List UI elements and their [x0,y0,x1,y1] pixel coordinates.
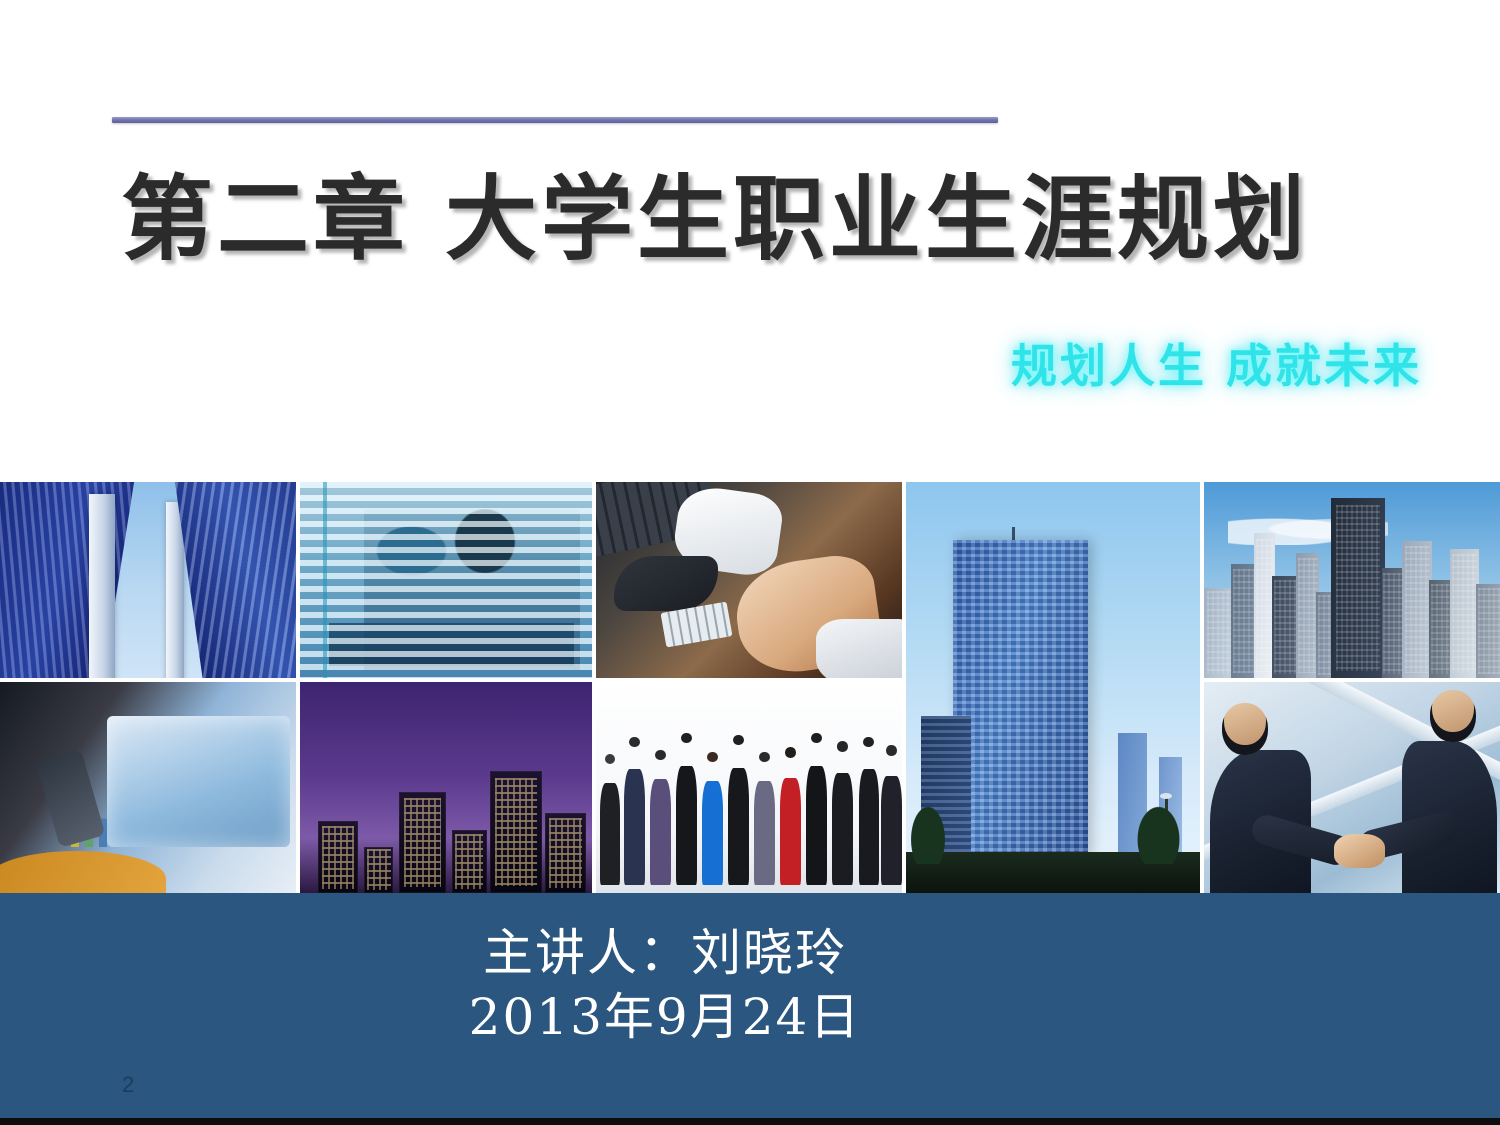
collage-column-2 [300,482,592,893]
page-number: 2 [122,1072,134,1098]
slide-tagline: 规划人生 成就未来 [1011,330,1422,396]
presentation-slide: 第二章 大学生职业生涯规划 规划人生 成就未来 [0,0,1500,1125]
photo-business-people-row [596,682,902,893]
photo-call-center-agent [0,682,296,893]
bottom-edge-rule [0,1118,1500,1125]
collage-column-4 [906,482,1200,893]
collage-column-5 [1204,482,1500,893]
presenter-name: 主讲人：刘晓玲 [0,921,1330,985]
photo-blue-skyscraper [906,482,1200,893]
title-underline-rule [112,117,998,123]
photo-city-skyline [1204,482,1500,678]
photo-glass-towers [0,482,296,678]
title-block: 第二章 大学生职业生涯规划 [0,168,1430,271]
photo-handshake [1204,682,1500,893]
collage-column-3 [596,482,902,893]
subtitle-block: 规划人生 成就未来 [1011,330,1422,396]
collage-column-1 [0,482,296,893]
photo-collage [0,482,1500,893]
photo-office-behind-blinds [300,482,592,678]
footer-band: 主讲人：刘晓玲 2013年9月24日 [0,893,1500,1118]
presentation-date: 2013年9月24日 [0,985,1330,1049]
presenter-block: 主讲人：刘晓玲 2013年9月24日 [0,921,1330,1049]
photo-telephone-keypad [596,482,902,678]
page-title: 第二章 大学生职业生涯规划 [0,168,1430,271]
photo-night-skyline [300,682,592,893]
